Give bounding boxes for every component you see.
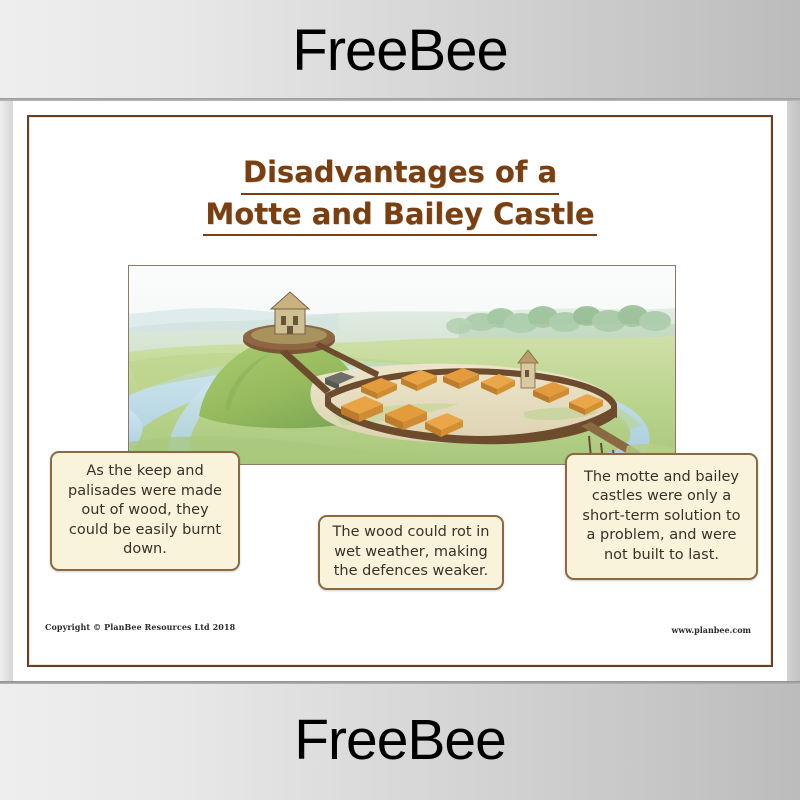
- fact-box-wood-burns: As the keep and palisades were made out …: [50, 451, 240, 571]
- website-url: www.planbee.com: [671, 625, 751, 635]
- top-brand-label: FreeBee: [292, 22, 507, 80]
- page-title: Disadvantages of a Motte and Bailey Cast…: [13, 153, 787, 236]
- title-line-1: Disadvantages of a: [241, 153, 559, 195]
- slide-canvas: Disadvantages of a Motte and Bailey Cast…: [13, 101, 787, 681]
- left-margin: [0, 101, 13, 681]
- fact-box-short-term-text: The motte and bailey castles were only a…: [576, 468, 747, 565]
- copyright-notice: Copyright © PlanBee Resources Ltd 2018: [45, 622, 235, 632]
- castle-scene-svg: [129, 266, 675, 464]
- poster-page: FreeBee Disadvantages of a Motte and Bai…: [0, 0, 800, 800]
- top-brand-banner: FreeBee: [0, 0, 800, 101]
- bottom-brand-label: FreeBee: [294, 712, 506, 769]
- fact-box-wood-rots-text: The wood could rot in wet weather, makin…: [329, 523, 493, 581]
- bottom-brand-banner: FreeBee: [0, 681, 800, 800]
- title-line-2: Motte and Bailey Castle: [203, 195, 596, 237]
- fact-box-short-term: The motte and bailey castles were only a…: [565, 453, 758, 580]
- right-margin: [787, 101, 800, 681]
- motte-and-bailey-illustration: [128, 265, 676, 465]
- fact-box-wood-rots: The wood could rot in wet weather, makin…: [318, 515, 504, 590]
- fact-box-wood-burns-text: As the keep and palisades were made out …: [61, 462, 229, 559]
